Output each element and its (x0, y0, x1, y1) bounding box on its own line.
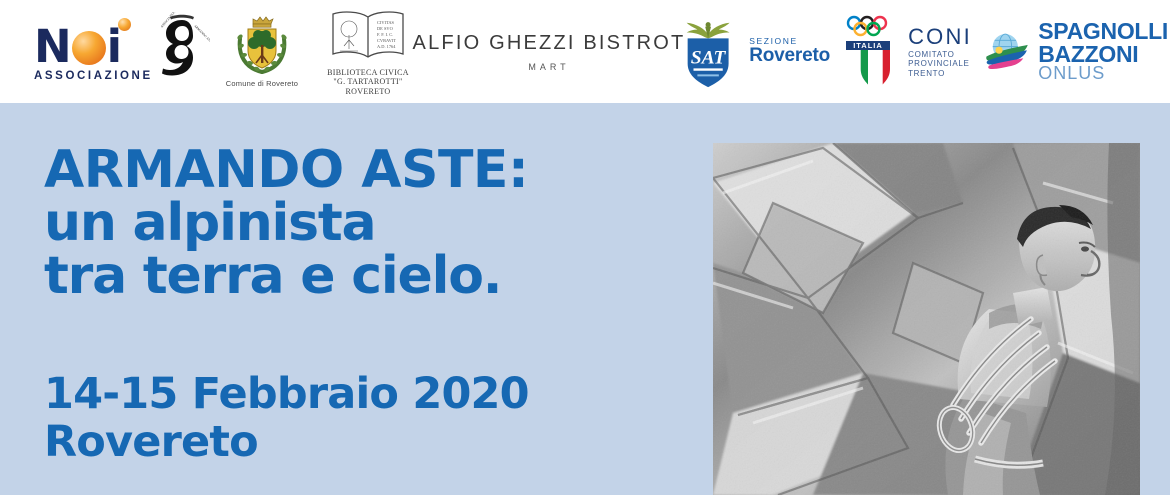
logo-coni-trento: ITALIA CONI COMITATO PROVINCIALE TRENTO (830, 6, 982, 98)
noi-letter-i: i (107, 27, 121, 67)
event-dates: 14-15 Febbraio 2020 (44, 370, 684, 418)
sat-eagle-shield-icon: SAT (674, 14, 742, 90)
coni-subtitle: COMITATO PROVINCIALE TRENTO (908, 50, 972, 79)
svg-text:DE SVO: DE SVO (377, 26, 393, 31)
comune-coat-of-arms-icon (229, 15, 295, 77)
svg-text:CVRAVIT: CVRAVIT (377, 38, 396, 43)
biblioteca-caption: BIBLIOTECA CIVICA "G. TARTAROTTI" ROVERE… (327, 68, 409, 97)
comune-caption: Comune di Rovereto (226, 79, 298, 88)
biblioteca-caption-line2: "G. TARTAROTTI" (327, 77, 409, 87)
logo-sat-rovereto: SAT SEZIONE Rovereto (674, 6, 830, 98)
noi-sphere-dot-icon (118, 18, 131, 31)
spagnolli-text-block: SPAGNOLLI BAZZONI ONLUS (1038, 20, 1168, 82)
climber-photo (713, 143, 1140, 495)
svg-text:A.D. 1764: A.D. 1764 (377, 44, 396, 49)
biblioteca-caption-line1: BIBLIOTECA CIVICA (327, 68, 409, 78)
coni-text-block: CONI COMITATO PROVINCIALE TRENTO (908, 25, 972, 79)
climber-photo-image (713, 143, 1140, 495)
spagnolli-line3: ONLUS (1038, 65, 1168, 82)
svg-text:F. F. I. C.: F. F. I. C. (377, 32, 393, 37)
open-book-icon: CIVITAS DE SVO F. F. I. C. CVRAVIT A.D. … (322, 7, 414, 65)
event-info: 14-15 Febbraio 2020 Rovereto (44, 370, 684, 466)
svg-text:SAT: SAT (691, 47, 727, 68)
logo-black-emblem: ASSOCIAZIONE ARMANDO ASTE (152, 6, 212, 98)
coni-olympic-shield-icon: ITALIA (840, 11, 902, 93)
sat-text-block: SEZIONE Rovereto (749, 37, 830, 66)
logo-biblioteca-civica: CIVITAS DE SVO F. F. I. C. CVRAVIT A.D. … (312, 6, 424, 98)
noi-letter-n: N (34, 27, 71, 67)
svg-text:ARMANDO ASTE: ARMANDO ASTE (193, 23, 210, 44)
poster-headline: ARMANDO ASTE: un alpinista tra terra e c… (44, 144, 684, 303)
noi-orange-sphere-icon (72, 31, 106, 65)
noi-subtitle: ASSOCIAZIONE (34, 70, 153, 82)
black-emblem-icon: ASSOCIAZIONE ARMANDO ASTE (154, 12, 210, 92)
spagnolli-line1: SPAGNOLLI (1038, 20, 1168, 42)
svg-text:CIVITAS: CIVITAS (377, 20, 395, 25)
coni-subtitle-line3: TRENTO (908, 69, 972, 79)
alfio-ghezzi-subtitle: MART (528, 62, 569, 72)
sponsor-logo-bar: N i ASSOCIAZIONE ASSOCIAZIONE ARMANDO AS… (0, 0, 1170, 103)
logo-noi-associazione: N i ASSOCIAZIONE (34, 6, 152, 98)
biblioteca-caption-line3: ROVERETO (327, 87, 409, 97)
logo-comune-di-rovereto: Comune di Rovereto (212, 6, 312, 98)
event-location: Rovereto (44, 418, 684, 466)
spagnolli-line2: BAZZONI (1038, 43, 1168, 65)
svg-text:ITALIA: ITALIA (853, 41, 883, 50)
logo-alfio-ghezzi-bistrot: ALFIO GHEZZI BISTROT MART (424, 6, 674, 98)
event-poster: N i ASSOCIAZIONE ASSOCIAZIONE ARMANDO AS… (0, 0, 1170, 495)
coni-subtitle-line2: PROVINCIALE (908, 59, 972, 69)
headline-line-1: ARMANDO ASTE: (44, 144, 684, 197)
coni-subtitle-line1: COMITATO (908, 50, 972, 60)
noi-wordmark: N i (34, 21, 121, 67)
spagnolli-globe-icon (982, 26, 1032, 78)
sat-city-name: Rovereto (749, 46, 830, 66)
coni-name: CONI (908, 25, 972, 48)
logo-spagnolli-bazzoni-onlus: SPAGNOLLI BAZZONI ONLUS (982, 6, 1168, 98)
alfio-ghezzi-name: ALFIO GHEZZI BISTROT (413, 32, 686, 55)
headline-line-2: un alpinista (44, 197, 684, 250)
headline-line-3: tra terra e cielo. (44, 250, 684, 303)
